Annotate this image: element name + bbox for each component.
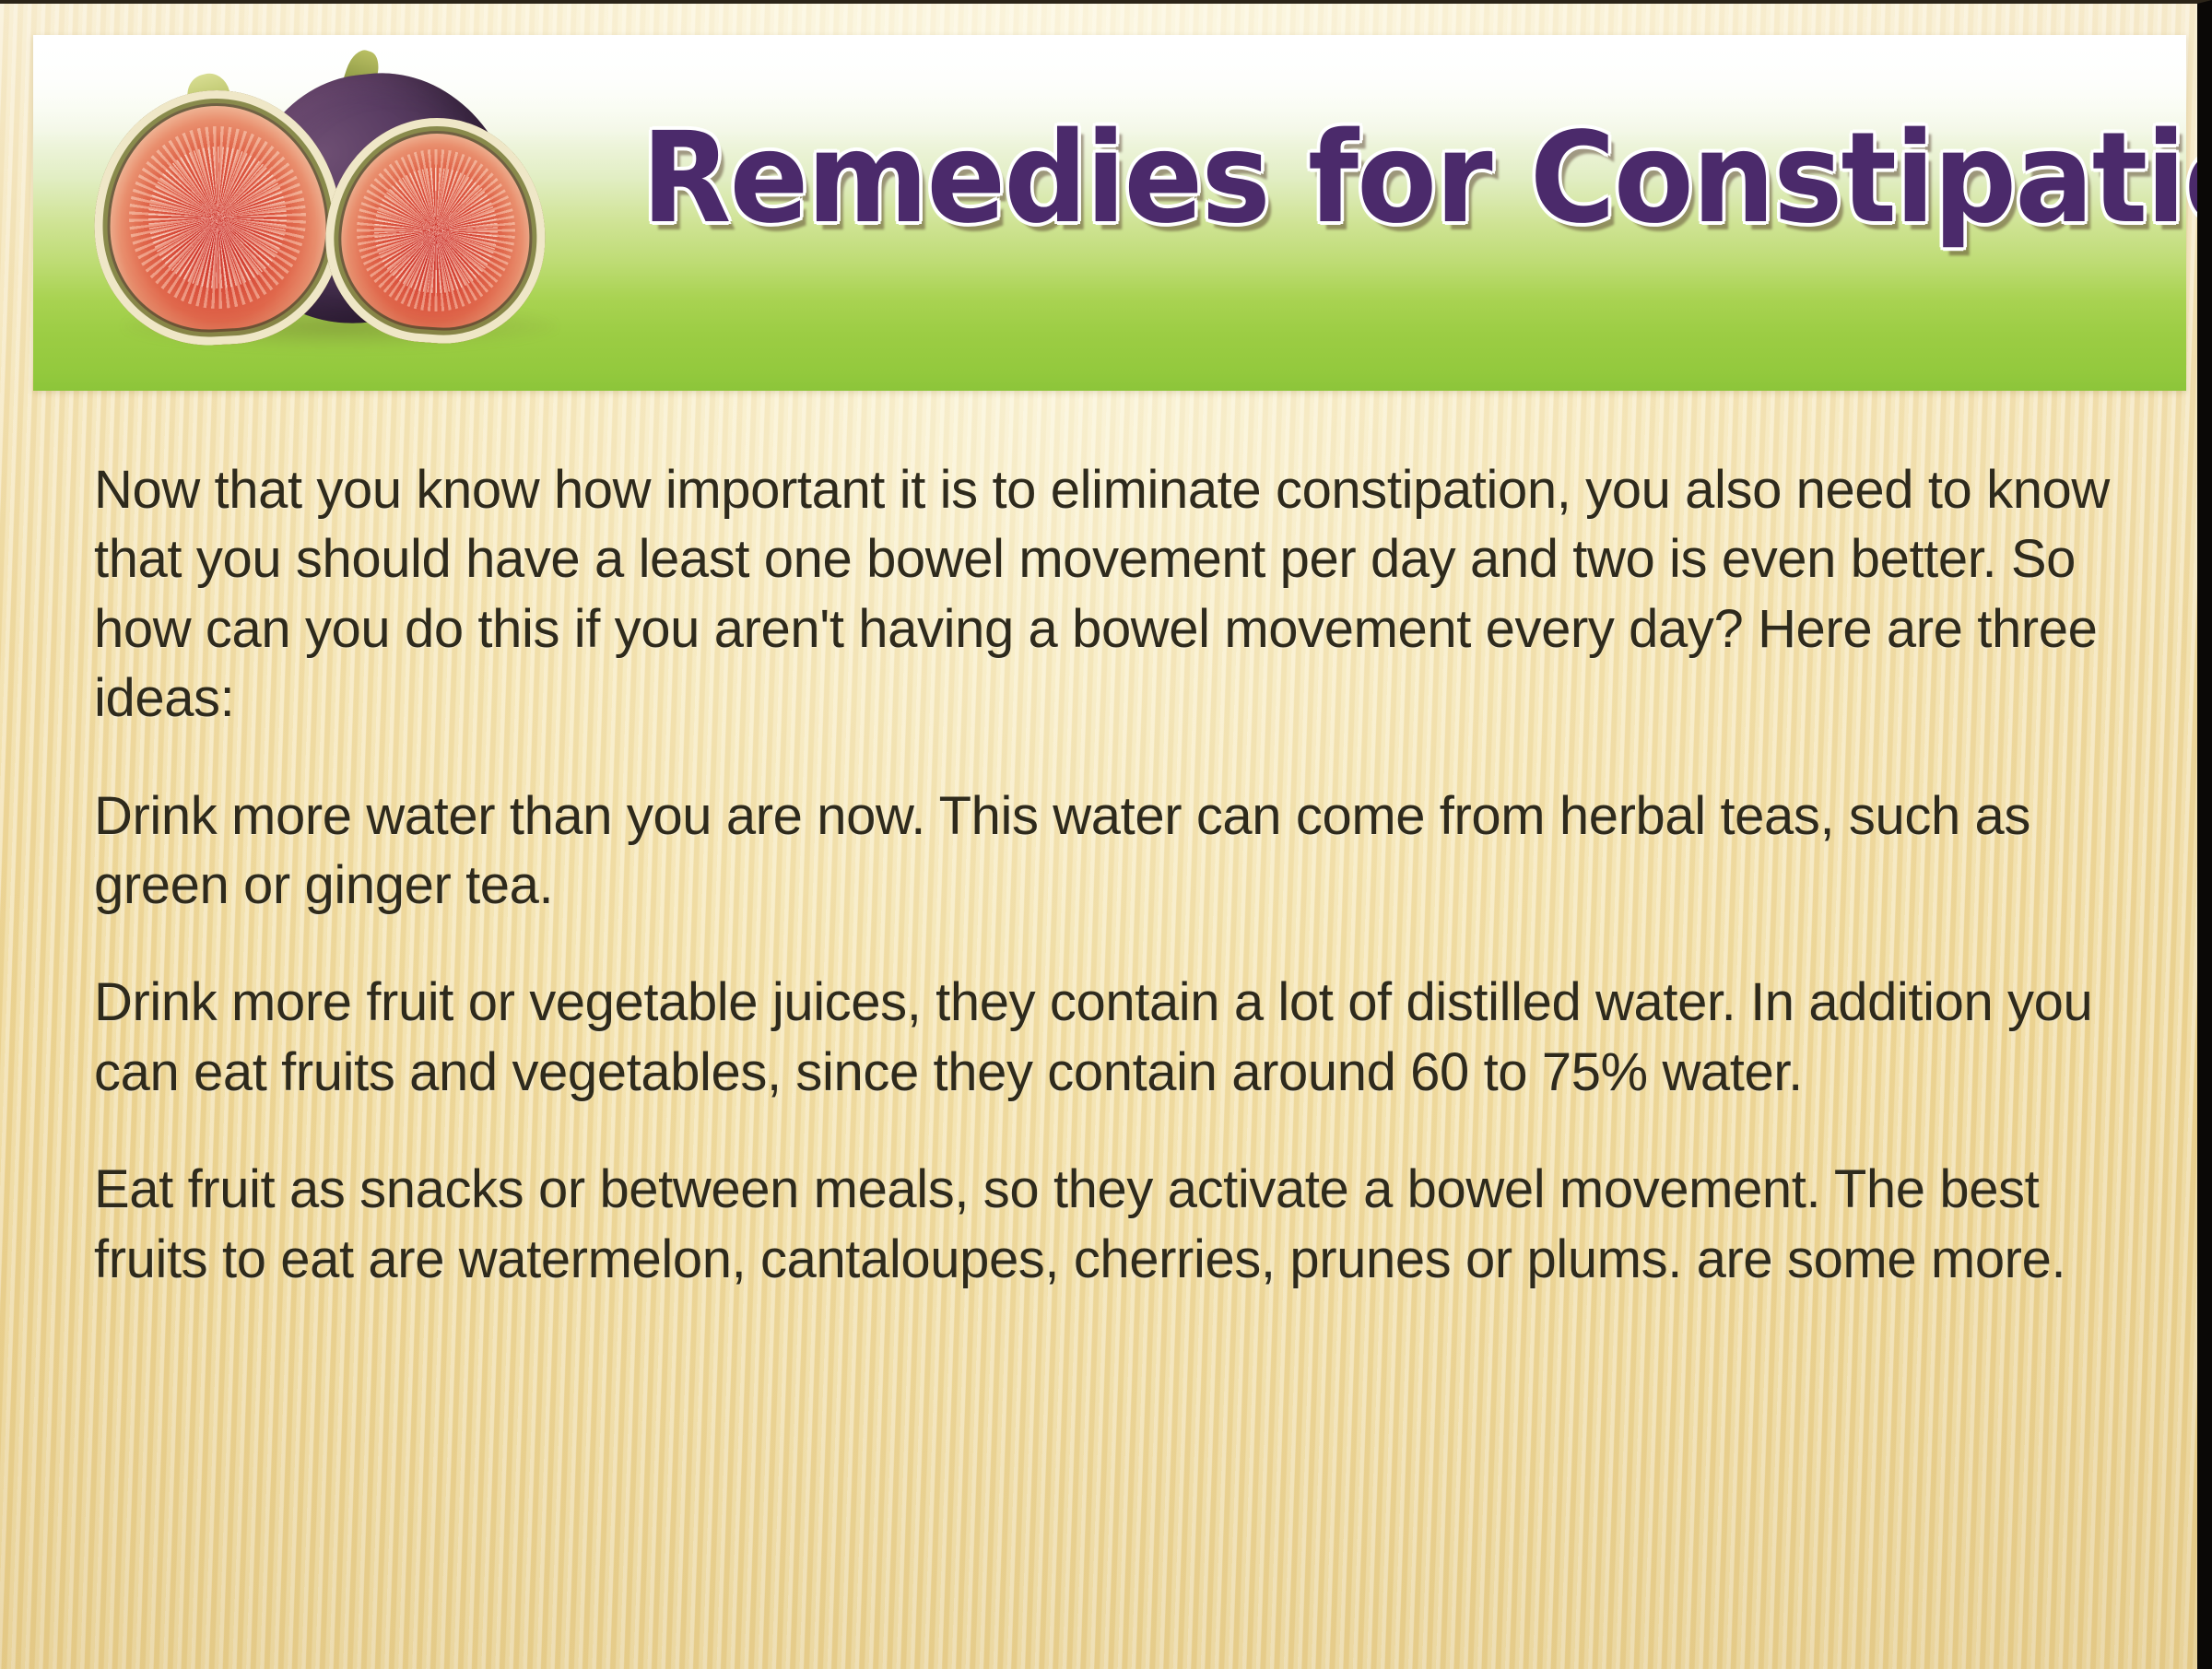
slide-body-text: Now that you know how important it is to… <box>94 455 2122 1294</box>
presentation-slide: Remedies for Constipation Now that you k… <box>0 0 2212 1669</box>
figs-photo <box>59 41 640 383</box>
page-title: Remedies for Constipation <box>641 114 2065 244</box>
body-paragraph-2: Drink more water than you are now. This … <box>94 782 2122 921</box>
body-paragraph-4: Eat fruit as snacks or between meals, so… <box>94 1155 2122 1294</box>
body-paragraph-1: Now that you know how important it is to… <box>94 455 2122 734</box>
title-banner: Remedies for Constipation <box>33 35 2186 391</box>
body-paragraph-3: Drink more fruit or vegetable juices, th… <box>94 968 2122 1107</box>
